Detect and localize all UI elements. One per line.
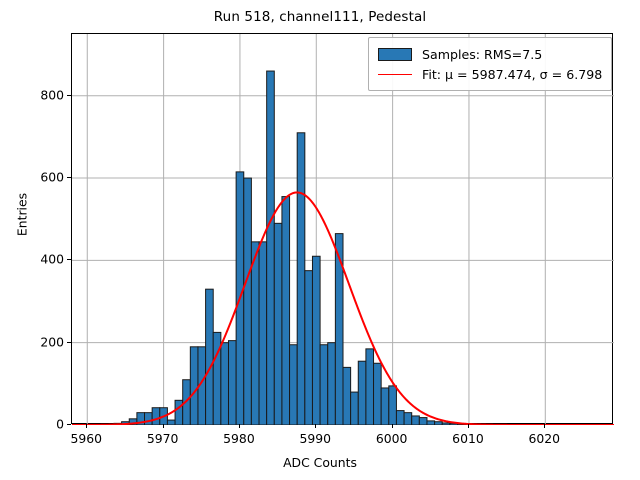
x-tick-mark xyxy=(392,424,393,428)
chart-title: Run 518, channel111, Pedestal xyxy=(0,9,640,25)
x-tick-mark xyxy=(86,424,87,428)
gaussian-fit-curve-layer xyxy=(72,34,612,423)
y-tick-label: 600 xyxy=(40,170,64,185)
x-tick-mark xyxy=(544,424,545,428)
legend-item-fit: Fit: μ = 5987.474, σ = 6.798 xyxy=(377,64,602,84)
legend-patch-icon xyxy=(377,47,413,61)
x-tick-label: 5970 xyxy=(147,431,179,446)
x-tick-label: 6000 xyxy=(376,431,408,446)
legend-label-samples: Samples: RMS=7.5 xyxy=(422,47,542,62)
figure-canvas: Run 518, channel111, Pedestal 5960597059… xyxy=(0,0,640,480)
x-tick-mark xyxy=(239,424,240,428)
y-tick-label: 800 xyxy=(40,87,64,102)
y-tick-mark xyxy=(67,259,71,260)
plot-area xyxy=(71,33,613,424)
x-tick-label: 6020 xyxy=(529,431,561,446)
x-tick-label: 6010 xyxy=(452,431,484,446)
y-tick-label: 0 xyxy=(56,417,64,432)
y-tick-mark xyxy=(67,342,71,343)
gaussian-fit-curve xyxy=(72,192,614,425)
y-axis-label: Entries xyxy=(15,155,30,275)
y-tick-mark xyxy=(67,177,71,178)
x-tick-mark xyxy=(468,424,469,428)
x-tick-label: 5990 xyxy=(300,431,332,446)
x-tick-mark xyxy=(163,424,164,428)
y-tick-label: 200 xyxy=(40,334,64,349)
chart-legend: Samples: RMS=7.5 Fit: μ = 5987.474, σ = … xyxy=(368,37,612,91)
y-tick-label: 400 xyxy=(40,252,64,267)
legend-item-samples: Samples: RMS=7.5 xyxy=(377,44,602,64)
x-tick-mark xyxy=(315,424,316,428)
y-tick-mark xyxy=(67,95,71,96)
x-tick-label: 5980 xyxy=(223,431,255,446)
x-tick-label: 5960 xyxy=(70,431,102,446)
legend-line-icon xyxy=(377,67,413,81)
x-axis-label: ADC Counts xyxy=(0,455,640,470)
y-tick-mark xyxy=(67,424,71,425)
legend-label-fit: Fit: μ = 5987.474, σ = 6.798 xyxy=(422,67,602,82)
